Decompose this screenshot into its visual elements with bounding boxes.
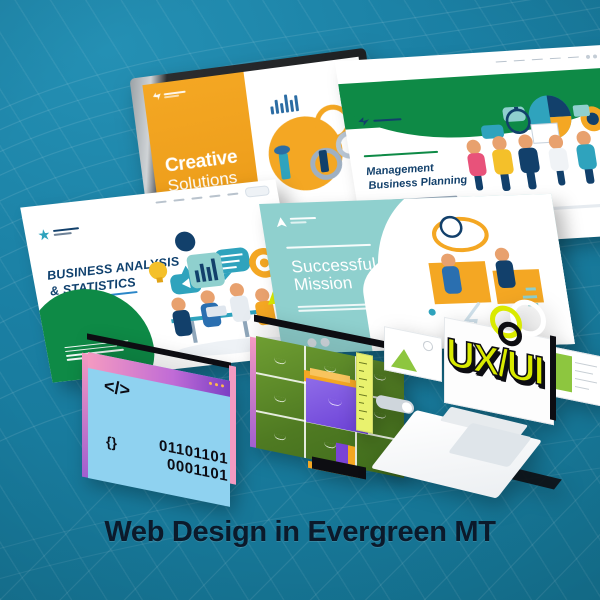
mission-title: Successful Mission <box>290 256 380 294</box>
wireframe-line <box>575 386 589 390</box>
brand-mark-icon <box>275 217 287 227</box>
mission-rule-top <box>286 244 371 249</box>
card-nav-button[interactable] <box>244 185 270 197</box>
wireframe-line <box>575 378 597 383</box>
brand-wordmark <box>290 217 317 226</box>
image-placeholder-icon <box>384 326 442 382</box>
illustration-bar-chart <box>269 91 299 114</box>
code-window-face <box>88 352 230 507</box>
wireframe-line <box>575 362 597 367</box>
banner-canvas: Creative Solutions <box>0 0 600 600</box>
mission-title-line2: Mission <box>293 273 381 294</box>
card-eyebrow-rule <box>364 151 439 158</box>
ruler-icon <box>356 352 373 433</box>
mission-brand-logo <box>275 216 317 227</box>
brand-wordmark <box>164 90 186 98</box>
window-controls-icon[interactable] <box>209 382 224 388</box>
brand-logo <box>152 89 186 101</box>
page-title: Web Design in Evergreen MT <box>0 516 600 549</box>
analysis-brand-logo <box>38 225 81 240</box>
code-window-right-edge <box>229 365 236 484</box>
wireframe-line <box>575 370 593 375</box>
ux-ui-laptop-icon: UX/UI <box>392 318 590 490</box>
window-controls-icon[interactable] <box>586 54 598 59</box>
mountain-icon <box>391 347 417 372</box>
brand-wordmark <box>373 118 401 122</box>
code-window-icon: </> {} 01101101 0001101 <box>82 352 242 492</box>
brand-mark-icon <box>38 229 51 241</box>
drawer-handle <box>328 398 342 407</box>
laptop-screen-edge <box>550 335 556 420</box>
brand-mark-icon <box>358 117 370 127</box>
brand-mark-icon <box>152 92 161 101</box>
code-brace-icon: {} <box>106 433 117 451</box>
sun-icon <box>423 340 433 352</box>
brand-wordmark <box>53 227 80 238</box>
toggle-knob <box>402 401 412 413</box>
